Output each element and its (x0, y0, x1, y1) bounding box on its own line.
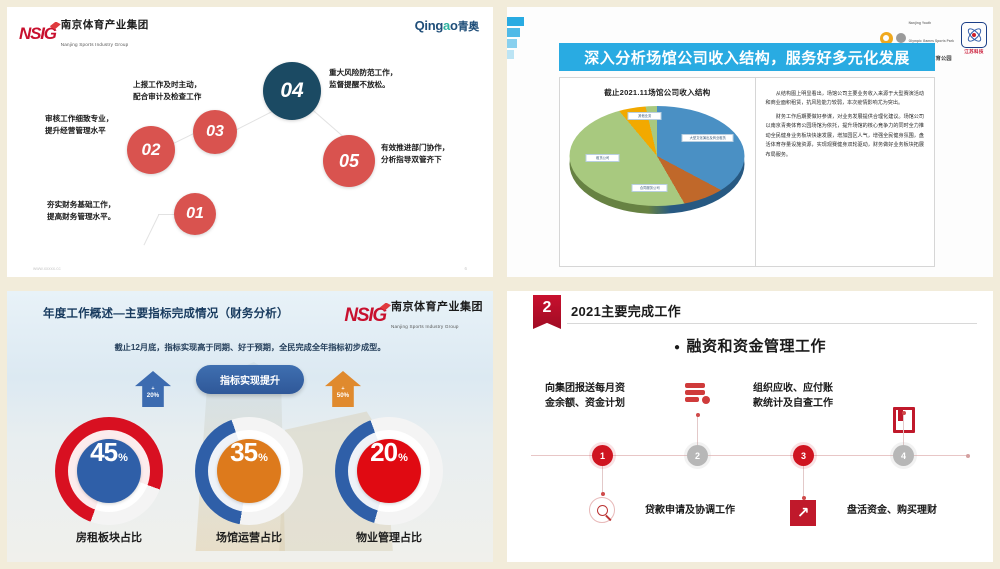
decorative-bars (507, 17, 524, 59)
search-icon (589, 497, 615, 523)
donut-chart-1: 45% 房租板块占比 (55, 417, 163, 525)
caption-03-line1: 上报工作及时主动， (133, 80, 201, 89)
pie-chart-panel: 截止2021.11场馆公司收入结构 大型文化演出及商业租赁 合同服务公司 租赁公… (559, 77, 755, 267)
node-01-label: 01 (186, 205, 204, 223)
donut-3-label: 物业管理占比 (356, 529, 422, 545)
donut-1-pct: % (118, 452, 128, 464)
timeline-text-4-line1: 盘活资金、购买理财 (847, 505, 937, 516)
pie-slice-label-1: 合同服务公司 (632, 184, 668, 192)
revenue-pie-chart: 大型文化演出及商业租赁 合同服务公司 租赁公司 其他业务 (570, 106, 745, 216)
caption-02-line1: 审核工作细致专业， (45, 114, 113, 123)
timeline-text-1-line1: 向集团报送每月资 (545, 383, 625, 394)
node-02-label: 02 (142, 140, 161, 160)
timeline-stem-2 (697, 415, 698, 445)
qingao-latin: Qing (415, 18, 443, 33)
timeline-text-1: 向集团报送每月资 金余额、资金计划 (545, 381, 625, 411)
slide-4-title: 2021主要完成工作 (571, 301, 681, 320)
nsig-logo: NSIG 南京体育产业集团 Nanjing Sports Industry Gr… (19, 15, 149, 51)
timeline-text-2-line1: 贷款申请及协调工作 (645, 505, 735, 516)
jskj-logo-cn: 江苏科技 (964, 49, 984, 55)
caption-05: 有效推进部门协作， 分析指导双管齐下 (381, 142, 449, 166)
nsig-logo-cn: 南京体育产业集团 (391, 301, 483, 313)
timeline-text-3-line1: 组织应收、应付账 (753, 383, 833, 394)
qingao-cn: 青奥 (458, 21, 479, 33)
slide-3-canvas: NSIG 南京体育产业集团 Nanjing Sports Industry Gr… (7, 291, 493, 562)
nsig-logo-en: Nanjing Sports Industry Group (61, 42, 129, 47)
slide-3[interactable]: NSIG 南京体育产业集团 Nanjing Sports Industry Gr… (0, 284, 500, 569)
analysis-paragraph-2: 财务工作后期要做好参谋，对业务发展提供合理化建议。场馆公司以南京青奥体育公园场馆… (766, 113, 924, 160)
analysis-paragraph-1: 从结构图上明显看出，场馆公司主要业务收入来源于大型赛演活动和商业面积租赁，抗风险… (766, 90, 924, 109)
nyo-logo-en-1: Nanjing Youth (909, 21, 932, 25)
deco-bar-1 (507, 17, 524, 26)
qingao-logo: Qingao青奥 (415, 18, 479, 34)
slide-4[interactable]: 2 2021主要完成工作 ●融资和资金管理工作 向集团报送每月资 金余额、资金计… (500, 284, 1000, 569)
slide-1[interactable]: NSIG 南京体育产业集团 Nanjing Sports Industry Gr… (0, 0, 500, 284)
timeline-node-1-label: 1 (600, 451, 605, 461)
timeline-text-4: 盘活资金、购买理财 (847, 503, 937, 518)
node-03[interactable]: 03 (193, 110, 237, 154)
pie-slice-label-2: 租赁公司 (586, 154, 620, 162)
donut-3-value: 20 (370, 439, 397, 465)
caption-02: 审核工作细致专业， 提升经营管理水平 (45, 113, 113, 137)
connector-01-02 (143, 214, 159, 245)
timeline-stem-3 (803, 466, 804, 498)
arrow-orange-value: 50% (337, 393, 349, 400)
donut-2-pct: % (258, 452, 268, 464)
caption-04-line1: 重大风险防范工作， (329, 68, 397, 77)
deco-bar-2 (507, 28, 520, 37)
timeline-node-2-label: 2 (695, 451, 700, 461)
slide-4-heading-text: 融资和资金管理工作 (687, 338, 827, 355)
increase-arrow-orange: + 50% (325, 371, 361, 407)
nsig-logo: NSIG 南京体育产业集团 Nanjing Sports Industry Gr… (344, 297, 483, 333)
caption-05-line1: 有效推进部门协作， (381, 143, 449, 152)
donut-chart-3: 20% 物业管理占比 (335, 417, 443, 525)
increase-arrow-blue: + 20% (135, 371, 171, 407)
node-03-label: 03 (206, 123, 224, 141)
caption-03: 上报工作及时主动， 配合审计及检查工作 (133, 79, 201, 103)
donut-1-value: 45 (90, 439, 117, 465)
donut-2-value: 35 (230, 439, 257, 465)
caption-01-line1: 夯实财务基础工作， (47, 200, 115, 209)
olympic-dot-icon (896, 33, 906, 43)
timeline-text-1-line2: 金余额、资金计划 (545, 398, 625, 409)
donut-2-core: 35% (217, 439, 281, 503)
server-icon (685, 383, 709, 405)
donut-3-pct: % (398, 452, 408, 464)
timeline-stem-1 (602, 466, 603, 494)
arrow-box-icon (790, 500, 816, 526)
slide-1-footer: www.xxxxx.cc 6 (7, 266, 493, 271)
caption-01: 夯实财务基础工作， 提高财务管理水平。 (47, 199, 115, 223)
donut-3-core: 20% (357, 439, 421, 503)
slide-2-title: 深入分析场馆公司收入结构，服务好多元化发展 (559, 43, 935, 71)
slide-3-subtitle: 截止12月底，指标实现高于同期、好于预期，全民完成全年指标初步成型。 (7, 341, 493, 353)
caption-01-line2: 提高财务管理水平。 (47, 212, 115, 221)
timeline-node-3-label: 3 (801, 451, 806, 461)
arrow-blue-value: 20% (147, 393, 159, 400)
caption-04: 重大风险防范工作， 监督提醒不放松。 (329, 67, 397, 91)
deco-bar-3 (507, 39, 517, 48)
qingao-accent: a (443, 18, 450, 33)
pie-slice-label-0: 大型文化演出及商业租赁 (682, 134, 734, 142)
slide-2-canvas: Nanjing Youth Olympic Games Sports Park … (507, 7, 993, 277)
node-04-label: 04 (280, 79, 303, 103)
nsig-logo-mark: NSIG (344, 306, 386, 325)
caption-05-line2: 分析指导双管齐下 (381, 155, 442, 164)
slide-3-title: 年度工作概述—主要指标完成情况（财务分析） (43, 305, 289, 321)
node-05-label: 05 (339, 151, 359, 172)
donut-chart-2: 35% 场馆运营占比 (195, 417, 303, 525)
donut-2-label: 场馆运营占比 (216, 529, 282, 545)
analysis-text-panel: 从结构图上明显看出，场馆公司主要业务收入来源于大型赛演活动和商业面积租赁，抗风险… (755, 77, 935, 267)
bullet-dot-icon: ● (674, 342, 681, 353)
title-divider (567, 323, 977, 324)
timeline-node-1[interactable]: 1 (592, 445, 613, 466)
timeline-node-4-label: 4 (901, 451, 906, 461)
slide-4-canvas: 2 2021主要完成工作 ●融资和资金管理工作 向集团报送每月资 金余额、资金计… (507, 291, 993, 562)
node-02[interactable]: 02 (127, 126, 175, 174)
donut-1-core: 45% (77, 439, 141, 503)
slide-2-body: 截止2021.11场馆公司收入结构 大型文化演出及商业租赁 合同服务公司 租赁公… (559, 77, 935, 267)
timeline-text-3: 组织应收、应付账 款统计及自查工作 (753, 381, 833, 411)
node-04[interactable]: 04 (263, 62, 321, 120)
timeline-node-4[interactable]: 4 (893, 445, 914, 466)
pie-chart-title: 截止2021.11场馆公司收入结构 (560, 87, 755, 98)
nsig-logo-mark: NSIG (19, 25, 56, 42)
nsig-logo-en: Nanjing Sports Industry Group (391, 324, 459, 329)
caption-03-line2: 配合审计及检查工作 (133, 92, 201, 101)
section-number-badge: 2 (533, 295, 561, 329)
slide-2[interactable]: Nanjing Youth Olympic Games Sports Park … (500, 0, 1000, 284)
caption-02-line2: 提升经营管理水平 (45, 126, 106, 135)
node-01[interactable]: 01 (174, 193, 216, 235)
caption-04-line2: 监督提醒不放松。 (329, 80, 390, 89)
pie-slice-label-3: 其他业务 (628, 112, 662, 120)
slide-thumbnail-grid: NSIG 南京体育产业集团 Nanjing Sports Industry Gr… (0, 0, 1000, 569)
qingao-latin2: o (450, 18, 458, 33)
jiangsu-keji-logo: 江苏科技 (961, 22, 987, 55)
timeline-node-3[interactable]: 3 (793, 445, 814, 466)
atom-icon (961, 22, 987, 48)
slide-4-heading: ●融资和资金管理工作 (507, 335, 993, 356)
indicator-pill[interactable]: 指标实现提升 (196, 365, 304, 394)
timeline-text-2: 贷款申请及协调工作 (645, 503, 735, 518)
timeline-stem-4 (903, 413, 904, 445)
timeline-text-3-line2: 款统计及自查工作 (753, 398, 833, 409)
slide-1-canvas: NSIG 南京体育产业集团 Nanjing Sports Industry Gr… (7, 7, 493, 277)
footer-url: www.xxxxx.cc (33, 266, 61, 271)
donut-1-label: 房租板块占比 (76, 529, 142, 545)
deco-bar-4 (507, 50, 514, 59)
nsig-logo-cn: 南京体育产业集团 (61, 19, 149, 31)
timeline-node-2[interactable]: 2 (687, 445, 708, 466)
node-05[interactable]: 05 (323, 135, 375, 187)
footer-page-number: 6 (464, 266, 467, 271)
